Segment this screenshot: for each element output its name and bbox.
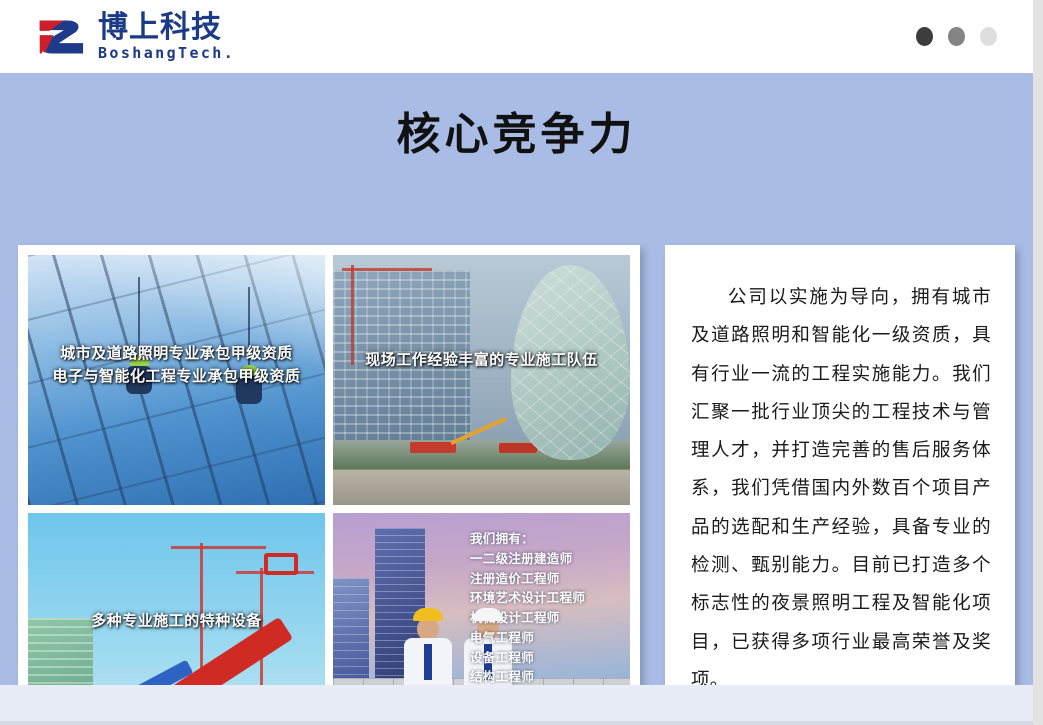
page-title: 核心竞争力 xyxy=(0,98,1033,162)
company-description-text: 公司以实施为导向，拥有城市及道路照明和智能化一级资质，具有行业一流的工程实施能力… xyxy=(691,279,991,700)
page-right-rail xyxy=(1033,0,1043,725)
brand-name-en: BoshangTech. xyxy=(98,46,235,61)
caption-line-1: 现场工作经验丰富的专业施工队伍 xyxy=(333,348,630,371)
photo-grid: 城市及道路照明专业承包甲级资质 电子与智能化工程专业承包甲级资质 现场工作经验 xyxy=(28,255,630,725)
circle-dot-dark-icon[interactable] xyxy=(916,27,933,46)
caption-line-1: 多种专业施工的特种设备 xyxy=(28,609,325,632)
header-indicator-dots[interactable] xyxy=(916,27,997,46)
photo-caption-top-left: 城市及道路照明专业承包甲级资质 电子与智能化工程专业承包甲级资质 xyxy=(28,342,325,389)
photo-card-top-left[interactable]: 城市及道路照明专业承包甲级资质 电子与智能化工程专业承包甲级资质 xyxy=(28,255,325,505)
boshang-b-mark-icon xyxy=(38,14,90,60)
slide-page: 博上科技 BoshangTech. 核心竞争力 xyxy=(0,0,1043,725)
photo-caption-bottom-left: 多种专业施工的特种设备 xyxy=(28,609,325,632)
site-header: 博上科技 BoshangTech. xyxy=(0,0,1033,73)
caption-line-2: 电子与智能化工程专业承包甲级资质 xyxy=(28,365,325,388)
photo-caption-top-right: 现场工作经验丰富的专业施工队伍 xyxy=(333,348,630,371)
brand-name-cn: 博上科技 xyxy=(98,13,235,43)
circle-dot-light-icon[interactable] xyxy=(980,27,997,46)
content-stage: 核心竞争力 城市及道路照明专业承包甲级资质 电子 xyxy=(0,73,1033,685)
description-panel: 公司以实施为导向，拥有城市及道路照明和智能化一级资质，具有行业一流的工程实施能力… xyxy=(665,245,1015,725)
caption-line-1: 城市及道路照明专业承包甲级资质 xyxy=(28,342,325,365)
gallery-panel: 城市及道路照明专业承包甲级资质 电子与智能化工程专业承包甲级资质 现场工作经验 xyxy=(18,245,640,725)
brand-logo[interactable]: 博上科技 BoshangTech. xyxy=(38,13,235,61)
photo-card-top-right[interactable]: 现场工作经验丰富的专业施工队伍 xyxy=(333,255,630,505)
page-bottom-band xyxy=(0,685,1033,725)
credentials-item: 注册造价工程师 xyxy=(470,569,622,589)
photo-image-city-construction-site xyxy=(333,255,630,505)
brand-wordmark: 博上科技 BoshangTech. xyxy=(98,13,235,61)
credentials-item: 设备工程师 xyxy=(470,648,622,668)
credentials-heading: 我们拥有： xyxy=(470,529,622,549)
credentials-item: 一二级注册建造师 xyxy=(470,549,622,569)
page-bottom-rule xyxy=(0,721,1033,725)
credentials-item: 环境艺术设计工程师 xyxy=(470,588,622,608)
circle-dot-mid-icon[interactable] xyxy=(948,27,965,46)
credentials-item: 电气工程师 xyxy=(470,628,622,648)
